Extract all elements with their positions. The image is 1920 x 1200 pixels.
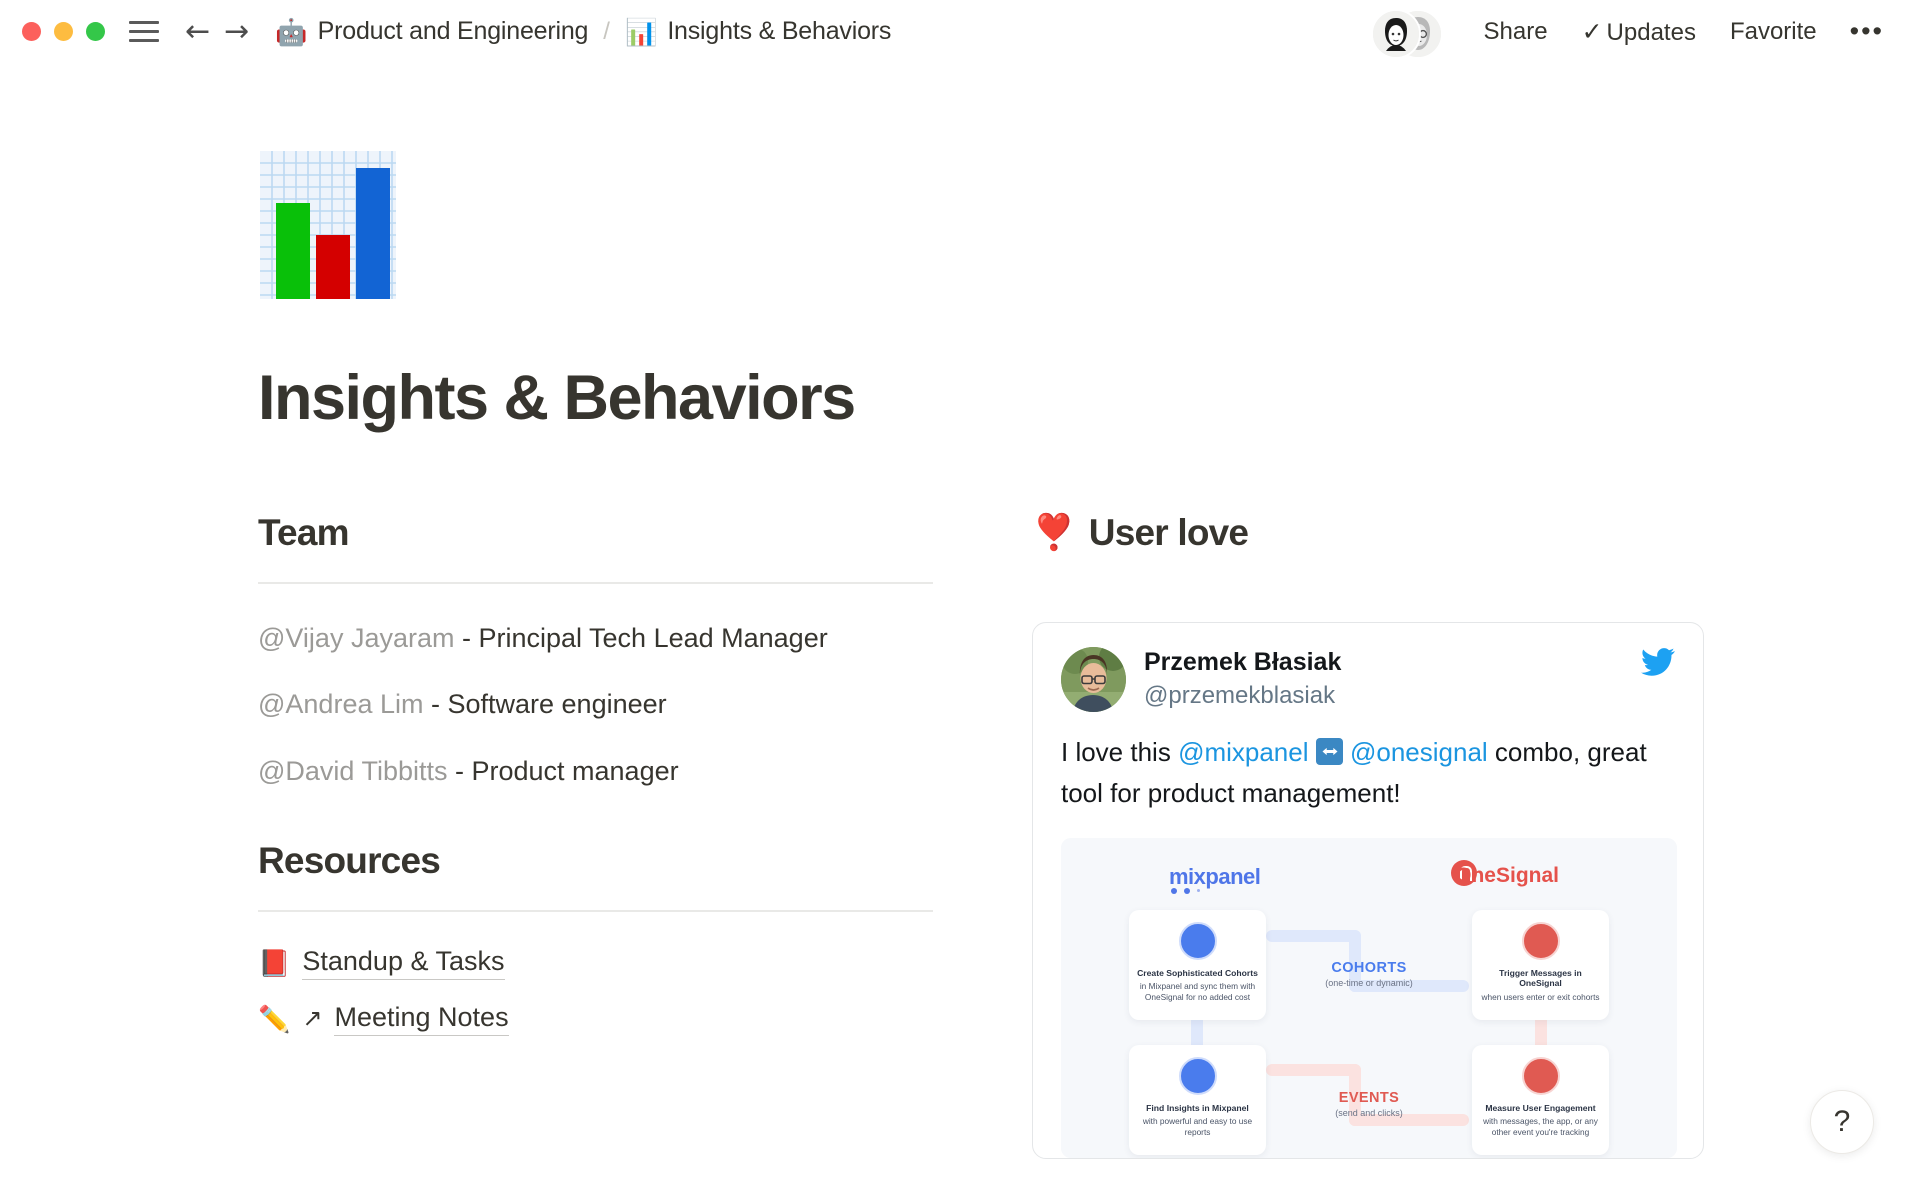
flow-label-events: EVENTS (send and clicks) bbox=[1274, 1090, 1464, 1118]
window-controls bbox=[0, 22, 105, 41]
member-mention[interactable]: @Andrea Lim bbox=[258, 689, 423, 719]
page-title: Insights & Behaviors bbox=[258, 364, 1880, 433]
diagram-card: Create Sophisticated Cohorts in Mixpanel… bbox=[1129, 910, 1266, 1020]
tweet-display-name: Przemek Błasiak bbox=[1144, 647, 1341, 678]
member-role: Product manager bbox=[471, 756, 678, 786]
left-right-arrow-icon bbox=[1316, 738, 1343, 775]
flow-pipe bbox=[1266, 1064, 1361, 1076]
diagram-card-subtitle: with powerful and easy to use reports bbox=[1137, 1116, 1258, 1138]
bell-icon bbox=[1522, 922, 1560, 960]
window-title-bar: ← → 🤖 Product and Engineering / 📊 Insigh… bbox=[0, 0, 1920, 63]
onesignal-logo-signal: Signal bbox=[1496, 864, 1559, 887]
member-role: Software engineer bbox=[447, 689, 666, 719]
user-love-heading: ❣️ User love bbox=[1032, 511, 1732, 555]
flow-pipe bbox=[1266, 930, 1361, 942]
diagram-card-subtitle: in Mixpanel and sync them with OneSignal… bbox=[1137, 981, 1258, 1003]
diagram-card-title: Create Sophisticated Cohorts bbox=[1137, 968, 1258, 979]
tweet-media-image[interactable]: mixpanel OneSignal bbox=[1061, 838, 1677, 1158]
team-heading: Team bbox=[258, 511, 958, 555]
resources-divider bbox=[258, 910, 933, 912]
help-button[interactable]: ? bbox=[1810, 1090, 1874, 1154]
zoom-window-button[interactable] bbox=[86, 22, 105, 41]
bar-chart-icon: 📊 bbox=[625, 19, 657, 45]
left-column: Team @Vijay Jayaram - Principal Tech Lea… bbox=[258, 511, 958, 1158]
right-column: ❣️ User love bbox=[1032, 511, 1732, 1158]
member-dash: - bbox=[447, 756, 471, 786]
document-icon bbox=[1179, 922, 1217, 960]
wave-chart-icon bbox=[1522, 1057, 1560, 1095]
updates-button[interactable]: ✓Updates bbox=[1565, 17, 1713, 47]
breadcrumb-separator: / bbox=[603, 18, 610, 46]
tweet-header: Przemek Błasiak @przemekblasiak bbox=[1061, 647, 1675, 712]
member-mention[interactable]: @David Tibbitts bbox=[258, 756, 447, 786]
diagram-card-title: Trigger Messages in OneSignal bbox=[1480, 968, 1601, 989]
diagram-card-subtitle: when users enter or exit cohorts bbox=[1480, 992, 1601, 1003]
hamburger-menu-icon[interactable] bbox=[129, 21, 159, 43]
flow-label-subtitle: (send and clicks) bbox=[1274, 1108, 1464, 1118]
tweet-embed-card[interactable]: Przemek Błasiak @przemekblasiak I love t… bbox=[1032, 622, 1704, 1159]
forward-arrow-icon[interactable]: → bbox=[224, 17, 249, 47]
flow-label-title: EVENTS bbox=[1274, 1090, 1464, 1106]
tweet-text: I love this @mixpanel @onesignal combo, … bbox=[1061, 734, 1675, 812]
list-item: @Vijay Jayaram - Principal Tech Lead Man… bbox=[258, 618, 858, 659]
page-content: Insights & Behaviors Team @Vijay Jayaram… bbox=[0, 141, 1920, 1159]
team-member-list: @Vijay Jayaram - Principal Tech Lead Man… bbox=[258, 618, 958, 792]
more-options-icon[interactable]: ••• bbox=[1834, 16, 1894, 47]
list-item: @Andrea Lim - Software engineer bbox=[258, 684, 858, 725]
diagram-card-subtitle: with messages, the app, or any other eve… bbox=[1480, 1116, 1601, 1138]
mixpanel-logo: mixpanel bbox=[1169, 864, 1260, 890]
check-icon: ✓ bbox=[1582, 18, 1603, 46]
page-icon[interactable] bbox=[258, 141, 398, 306]
diagram-card: Measure User Engagement with messages, t… bbox=[1472, 1045, 1609, 1155]
flow-label-cohorts: COHORTS (one-time or dynamic) bbox=[1274, 960, 1464, 988]
member-mention[interactable]: @Vijay Jayaram bbox=[258, 623, 454, 653]
closed-book-icon: 📕 bbox=[258, 950, 290, 976]
avatar[interactable] bbox=[1061, 647, 1126, 712]
tweet-mention-onesignal[interactable]: @onesignal bbox=[1350, 737, 1488, 767]
back-arrow-icon[interactable]: ← bbox=[185, 17, 210, 47]
breadcrumb: 🤖 Product and Engineering / 📊 Insights &… bbox=[275, 17, 891, 46]
external-link-arrow-icon: ↗ bbox=[302, 1007, 322, 1031]
flow-label-subtitle: (one-time or dynamic) bbox=[1274, 978, 1464, 988]
list-item[interactable]: 📕 Standup & Tasks bbox=[258, 946, 958, 980]
onesignal-logo: OneSignal bbox=[1455, 864, 1559, 888]
updates-label: Updates bbox=[1607, 19, 1696, 46]
robot-icon: 🤖 bbox=[275, 19, 307, 45]
integration-diagram: mixpanel OneSignal bbox=[1061, 838, 1677, 1158]
team-divider bbox=[258, 582, 933, 584]
diagram-card-title: Find Insights in Mixpanel bbox=[1137, 1103, 1258, 1114]
tweet-text-part1: I love this bbox=[1061, 737, 1178, 767]
list-item: @David Tibbitts - Product manager bbox=[258, 751, 858, 792]
diagram-card: Trigger Messages in OneSignal when users… bbox=[1472, 910, 1609, 1020]
favorite-button[interactable]: Favorite bbox=[1713, 18, 1834, 46]
mixpanel-logo-dots bbox=[1171, 888, 1200, 894]
team-heading-label: Team bbox=[258, 511, 349, 555]
user-love-heading-label: User love bbox=[1089, 511, 1248, 555]
resource-link[interactable]: Meeting Notes bbox=[334, 1002, 508, 1036]
bar-chart-icon bbox=[1179, 1057, 1217, 1095]
diagram-card: Find Insights in Mixpanel with powerful … bbox=[1129, 1045, 1266, 1155]
tweet-mention-mixpanel[interactable]: @mixpanel bbox=[1178, 737, 1308, 767]
collaborator-avatars[interactable] bbox=[1371, 9, 1439, 55]
member-role: Principal Tech Lead Manager bbox=[478, 623, 827, 653]
tweet-author: Przemek Błasiak @przemekblasiak bbox=[1144, 647, 1341, 711]
member-dash: - bbox=[454, 623, 478, 653]
resources-list: 📕 Standup & Tasks ✏️ ↗ Meeting Notes bbox=[258, 946, 958, 1036]
list-item[interactable]: ✏️ ↗ Meeting Notes bbox=[258, 1002, 958, 1036]
resources-heading-label: Resources bbox=[258, 839, 440, 883]
diagram-card-title: Measure User Engagement bbox=[1480, 1103, 1601, 1114]
resource-link[interactable]: Standup & Tasks bbox=[302, 946, 504, 980]
member-dash: - bbox=[423, 689, 447, 719]
pencil-icon: ✏️ bbox=[258, 1006, 290, 1032]
share-button[interactable]: Share bbox=[1467, 18, 1565, 46]
tweet-handle[interactable]: @przemekblasiak bbox=[1144, 680, 1341, 711]
breadcrumb-current-link[interactable]: Insights & Behaviors bbox=[667, 17, 891, 46]
flow-label-title: COHORTS bbox=[1274, 960, 1464, 976]
minimize-window-button[interactable] bbox=[54, 22, 73, 41]
onesignal-logo-one: One bbox=[1455, 864, 1496, 887]
breadcrumb-parent-link[interactable]: Product and Engineering bbox=[318, 17, 589, 46]
close-window-button[interactable] bbox=[22, 22, 41, 41]
two-column-layout: Team @Vijay Jayaram - Principal Tech Lea… bbox=[258, 511, 1880, 1158]
navigation-arrows: ← → bbox=[185, 17, 249, 47]
resources-heading: Resources bbox=[258, 839, 958, 883]
heart-exclamation-icon: ❣️ bbox=[1032, 512, 1075, 554]
avatar[interactable] bbox=[1371, 9, 1421, 59]
twitter-bird-icon[interactable] bbox=[1641, 647, 1675, 677]
top-bar-actions: Share ✓Updates Favorite ••• bbox=[1371, 9, 1920, 55]
